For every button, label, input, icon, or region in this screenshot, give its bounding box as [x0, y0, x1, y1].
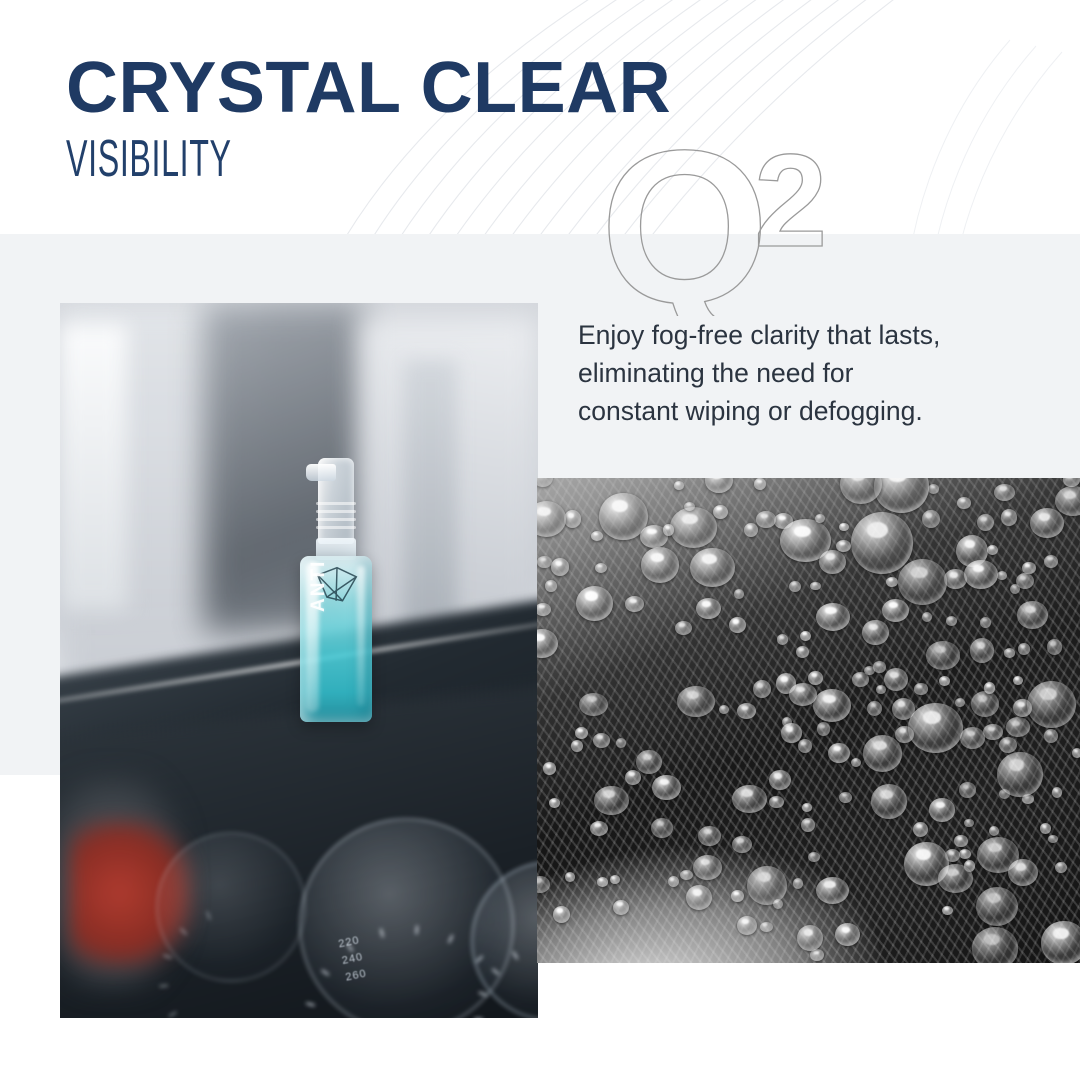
water-droplet	[545, 580, 558, 592]
water-droplet	[680, 870, 692, 880]
water-droplet	[693, 855, 721, 880]
water-droplet	[840, 478, 881, 504]
water-droplet	[565, 872, 575, 882]
bottom-white-margin	[0, 1020, 1080, 1080]
water-droplet	[1047, 639, 1063, 655]
water-droplet	[1010, 584, 1020, 594]
water-droplet	[713, 505, 728, 519]
water-droplet	[884, 668, 908, 691]
water-droplet	[610, 875, 620, 884]
water-droplet	[1040, 823, 1051, 833]
water-droplet	[898, 559, 947, 604]
water-droplet	[753, 680, 771, 698]
water-droplet	[670, 507, 717, 547]
water-droplet	[971, 691, 999, 717]
gauge-number-240: 240	[341, 951, 364, 967]
water-droplet	[537, 501, 566, 537]
water-droplet	[773, 899, 783, 909]
water-droplet	[819, 550, 846, 575]
water-droplet	[999, 737, 1017, 753]
water-droplet	[816, 603, 850, 631]
water-droplet	[839, 792, 852, 803]
water-droplet	[616, 738, 626, 748]
water-droplet	[839, 523, 849, 531]
water-droplet	[636, 750, 661, 774]
water-droplets-scene	[537, 478, 1080, 963]
page-title: CRYSTAL CLEAR	[66, 52, 671, 124]
water-droplet	[537, 629, 558, 658]
water-droplet	[938, 864, 973, 893]
blurred-window-light	[60, 324, 127, 610]
water-droplet	[813, 689, 852, 722]
product-photo-car-interior: 220 240 260	[60, 303, 538, 1018]
body-line-3: constant wiping or defogging.	[578, 392, 1048, 430]
water-droplet	[997, 571, 1007, 580]
bottle-cap-ridge-2	[316, 510, 356, 513]
water-droplet	[591, 531, 604, 541]
water-droplet	[972, 927, 1018, 963]
gauge-number-260: 260	[345, 968, 368, 984]
water-droplet	[959, 849, 971, 859]
water-droplet	[817, 722, 830, 735]
water-droplet	[816, 877, 849, 904]
body-line-1: Enjoy fog-free clarity that lasts,	[578, 316, 1048, 354]
water-droplet	[926, 641, 960, 669]
water-droplet	[575, 727, 588, 739]
water-droplet	[862, 620, 889, 646]
water-droplet	[731, 890, 744, 902]
water-droplet	[551, 558, 569, 575]
water-droplet	[922, 612, 932, 622]
water-droplet	[781, 723, 802, 743]
water-droplet	[553, 906, 570, 923]
water-droplet	[800, 631, 810, 641]
water-droplet	[744, 523, 758, 537]
water-droplet	[882, 599, 910, 622]
water-droplet	[828, 743, 849, 763]
poster-canvas: CRYSTAL CLEAR VISIBILITY Q 2 Enjoy fog-f…	[0, 0, 1080, 1080]
water-droplet	[851, 758, 861, 767]
water-droplet	[705, 478, 733, 493]
water-droplet	[959, 782, 976, 798]
water-droplet	[867, 701, 882, 716]
water-droplet	[1030, 508, 1064, 538]
water-droplet	[944, 569, 966, 589]
water-droplet	[571, 740, 583, 752]
water-droplet	[908, 703, 963, 753]
body-paragraph: Enjoy fog-free clarity that lasts, elimi…	[578, 316, 1048, 430]
water-droplet	[1008, 859, 1038, 886]
water-droplet	[873, 661, 885, 673]
water-droplet	[1072, 748, 1080, 758]
anti-fog-spray-bottle: ANTI FOG	[292, 458, 380, 723]
water-droplet	[1018, 643, 1031, 655]
water-droplet	[686, 885, 712, 910]
water-droplet	[808, 852, 819, 862]
water-droplet	[719, 705, 729, 715]
water-droplet	[737, 916, 757, 935]
water-droplet	[789, 683, 817, 706]
water-droplet	[651, 818, 673, 838]
water-droplet	[543, 762, 556, 775]
water-droplet	[1044, 729, 1059, 743]
water-droplet	[590, 821, 608, 836]
water-droplet	[863, 735, 902, 772]
water-droplet	[625, 596, 644, 612]
water-droplet	[1063, 478, 1080, 487]
water-droplet	[835, 923, 859, 946]
water-droplet	[674, 481, 684, 490]
water-droplet	[976, 887, 1018, 926]
water-droplet	[808, 671, 823, 685]
water-droplet	[652, 775, 680, 801]
water-droplet	[942, 906, 953, 915]
water-droplet	[1013, 676, 1023, 685]
water-droplet	[698, 826, 721, 846]
water-droplet	[796, 646, 809, 658]
water-droplet	[876, 685, 886, 694]
water-droplet	[696, 598, 721, 619]
bottle-product-label: ANTI FOG	[308, 556, 329, 612]
water-droplet	[874, 478, 930, 513]
water-droplet	[960, 727, 985, 748]
water-droplet	[732, 785, 767, 814]
water-droplet	[769, 796, 784, 809]
water-droplet	[756, 511, 775, 527]
water-droplet	[980, 617, 991, 628]
water-droplet	[797, 925, 824, 952]
water-droplet	[836, 540, 851, 552]
water-droplet	[1055, 862, 1067, 873]
water-droplet	[929, 798, 954, 822]
water-droplet	[564, 510, 582, 528]
gauge-ticks-left	[158, 834, 304, 980]
water-droplet	[593, 733, 610, 748]
water-droplet	[954, 835, 967, 847]
water-droplet	[789, 581, 801, 593]
water-droplet	[537, 876, 550, 893]
water-droplet	[594, 786, 629, 816]
gauge-number-220: 220	[338, 934, 361, 950]
water-droplet	[597, 877, 608, 886]
water-droplet	[851, 512, 913, 574]
water-droplet	[737, 703, 757, 719]
water-droplet	[1041, 921, 1080, 963]
water-droplet	[987, 545, 998, 555]
water-droplet	[955, 698, 965, 707]
water-droplet	[1004, 648, 1015, 658]
water-droplet	[754, 478, 766, 490]
water-droplet	[886, 577, 899, 587]
bottle-cap-ridge-1	[316, 502, 356, 505]
droplet-field	[537, 478, 1080, 963]
water-droplet	[1006, 717, 1030, 736]
water-droplet	[549, 798, 560, 808]
water-droplet	[595, 563, 608, 573]
water-droplet	[913, 822, 928, 837]
water-droplet	[802, 803, 812, 812]
headline-block: CRYSTAL CLEAR VISIBILITY	[66, 52, 671, 185]
water-droplet	[690, 548, 735, 588]
water-droplet	[579, 693, 608, 716]
water-droplet	[613, 900, 629, 915]
water-droplet	[914, 683, 928, 694]
water-droplet	[1048, 835, 1058, 843]
water-droplet	[576, 586, 613, 622]
water-droplet	[1017, 601, 1049, 629]
water-droplet	[625, 770, 641, 785]
water-droplet	[895, 726, 914, 743]
water-droplet	[793, 878, 803, 889]
water-droplet	[1001, 509, 1017, 526]
water-droplet	[810, 582, 820, 590]
water-droplet	[537, 478, 553, 487]
water-droplet	[675, 621, 692, 635]
water-droplet	[989, 826, 999, 836]
bottle-cap-ridge-3	[316, 518, 356, 521]
water-droplet	[734, 589, 744, 599]
bottle-body: ANTI FOG	[300, 556, 372, 722]
water-droplet	[984, 682, 995, 693]
water-droplet	[957, 497, 971, 509]
water-droplet	[1052, 787, 1062, 797]
water-droplet	[801, 818, 815, 832]
water-droplet	[964, 560, 997, 589]
water-droplet	[729, 617, 746, 634]
water-droplet	[922, 510, 940, 528]
water-droplet	[760, 922, 773, 933]
water-droplet	[964, 819, 974, 827]
water-droplet	[946, 616, 957, 626]
water-droplet	[641, 547, 679, 583]
water-droplet	[1044, 555, 1058, 568]
water-droplet	[977, 514, 994, 531]
water-droplet	[970, 638, 994, 662]
water-droplet	[798, 739, 812, 753]
spray-nozzle-icon	[306, 464, 336, 481]
page-subtitle: VISIBILITY	[66, 133, 441, 185]
bottle-label-line1: ANTI	[308, 560, 329, 612]
water-droplet	[537, 603, 551, 616]
water-droplet	[1027, 681, 1076, 728]
water-droplet	[732, 836, 751, 853]
water-droplet	[939, 676, 950, 685]
water-droplet	[994, 484, 1015, 501]
water-droplet	[928, 484, 939, 494]
water-droplet	[777, 634, 788, 645]
water-droplet	[871, 784, 908, 819]
water-droplet	[677, 686, 715, 717]
instrument-gauge-left	[156, 832, 306, 982]
body-line-2: eliminating the need for	[578, 354, 1048, 392]
bottle-cap-ridge-4	[316, 526, 356, 529]
water-droplet	[997, 752, 1043, 798]
water-droplet	[668, 876, 679, 887]
water-beading-photo	[537, 478, 1080, 963]
water-droplet	[983, 724, 1002, 739]
water-droplet	[815, 514, 825, 524]
car-interior-scene: 220 240 260	[60, 303, 538, 1018]
water-droplet	[769, 770, 791, 790]
